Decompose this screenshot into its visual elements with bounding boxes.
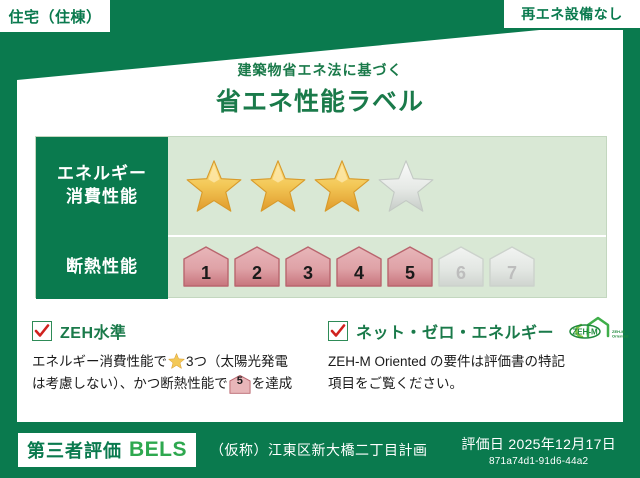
zeh-standard-title: ZEH水準 [60, 319, 127, 343]
insulation-performance-label-box: 断熱性能 [36, 235, 168, 299]
insulation-rating-content: 1 2 3 [168, 246, 606, 288]
building-type-tag-label: 住宅（住棟） [8, 6, 101, 27]
net-zero-desc-line2: 項目をご覧ください。 [328, 376, 463, 391]
check-icon [34, 323, 50, 339]
bels-badge: 第三者評価 BELS [18, 433, 196, 467]
star-rating [168, 159, 434, 213]
net-zero-energy-description: ZEH-M Oriented の要件は評価書の特記項目をご覧ください。 [328, 351, 616, 395]
insulation-grade-badge: 6 [437, 246, 485, 288]
net-zero-energy-checkbox[interactable] [328, 321, 348, 341]
zeh-desc-part3: は考慮しない）、かつ断熱性能で [32, 376, 228, 391]
zeh-standard-description: エネルギー消費性能で3つ（太陽光発電は考慮しない）、かつ断熱性能で5を達成 [32, 351, 320, 395]
insulation-grade-value: 2 [252, 263, 262, 284]
energy-rating-content [168, 159, 606, 213]
star-icon [250, 159, 306, 213]
net-zero-desc-line1: ZEH-M Oriented の要件は評価書の特記 [328, 354, 565, 369]
project-name: （仮称）江東区新大橋二丁目計画 [210, 440, 428, 460]
zeh-m-logo-icon: ZEH-M ZEH-M Oriented [566, 315, 630, 343]
footer-bar: 第三者評価 BELS （仮称）江東区新大橋二丁目計画 評価日 2025年12月1… [0, 422, 640, 478]
bels-mark-label: BELS [129, 438, 187, 462]
insulation-performance-row: 断熱性能 [36, 235, 606, 299]
zeh-desc-part2: 3つ（太陽光発電 [186, 354, 288, 369]
zeh-m-logo-sub2: Oriented [612, 333, 629, 338]
insulation-grade-scale: 1 2 3 [168, 246, 536, 288]
energy-label-line2: 消費性能 [66, 186, 138, 209]
check-icon [330, 323, 346, 339]
insulation-grade-badge: 4 [335, 246, 383, 288]
insulation-grade-value: 1 [201, 263, 211, 284]
evaluation-id: 871a74d1-91d6-44a2 [461, 456, 616, 467]
insulation-grade-value: 5 [405, 263, 415, 284]
insulation-grade-badge: 7 [488, 246, 536, 288]
insulation-grade-value: 4 [354, 263, 364, 284]
third-party-eval-label: 第三者評価 [27, 437, 122, 463]
net-zero-energy-title: ネット・ゼロ・エネルギー [356, 319, 554, 343]
label-title: 省エネ性能ラベル [0, 82, 640, 118]
star-icon [186, 159, 242, 213]
zeh-standard-header: ZEH水準 [32, 318, 320, 344]
insulation-grade-badge: 1 [182, 246, 230, 288]
insulation-grade-badge: 3 [284, 246, 332, 288]
insulation-grade-value: 3 [303, 263, 313, 284]
zeh-standard-checkbox[interactable] [32, 321, 52, 341]
performance-panel: エネルギー 消費性能 [35, 136, 607, 298]
zeh-desc-part1: エネルギー消費性能で [32, 354, 167, 369]
zeh-m-logo: ZEH-M ZEH-M Oriented [566, 315, 630, 348]
evaluation-meta: 評価日 2025年12月17日 871a74d1-91d6-44a2 [461, 434, 616, 467]
label-subtitle: 建築物省エネ法に基づく [0, 60, 640, 80]
energy-performance-row: エネルギー 消費性能 [36, 137, 606, 235]
star-icon [168, 353, 185, 369]
zeh-desc-part4: を達成 [252, 376, 293, 391]
insulation-grade-value: 7 [507, 263, 517, 284]
renewable-energy-tag: 再エネ設備なし [502, 0, 640, 30]
evaluation-date: 評価日 2025年12月17日 [461, 434, 616, 454]
inline-grade-value: 5 [229, 375, 251, 392]
energy-label-line1: エネルギー [57, 163, 147, 186]
star-icon-empty [378, 159, 434, 213]
inline-grade-badge: 5 [229, 375, 251, 392]
zeh-standard-section: ZEH水準 エネルギー消費性能で3つ（太陽光発電は考慮しない）、かつ断熱性能で5… [32, 318, 320, 395]
insulation-grade-value: 6 [456, 263, 466, 284]
energy-performance-label: 住宅（住棟） 再エネ設備なし 建築物省エネ法に基づく 省エネ性能ラベル エネルギ… [0, 0, 640, 478]
net-zero-energy-section: ネット・ゼロ・エネルギー ZEH-M ZEH-M Oriented ZEH-M … [328, 318, 616, 395]
insulation-label-line1: 断熱性能 [66, 256, 138, 279]
net-zero-energy-header: ネット・ゼロ・エネルギー ZEH-M ZEH-M Oriented [328, 318, 616, 344]
renewable-energy-tag-label: 再エネ設備なし [521, 4, 623, 24]
building-type-tag: 住宅（住棟） [0, 0, 112, 34]
insulation-grade-badge: 2 [233, 246, 281, 288]
zeh-m-logo-text: ZEH-M [572, 327, 598, 336]
insulation-grade-badge: 5 [386, 246, 434, 288]
star-icon [314, 159, 370, 213]
energy-performance-label-box: エネルギー 消費性能 [36, 137, 168, 235]
